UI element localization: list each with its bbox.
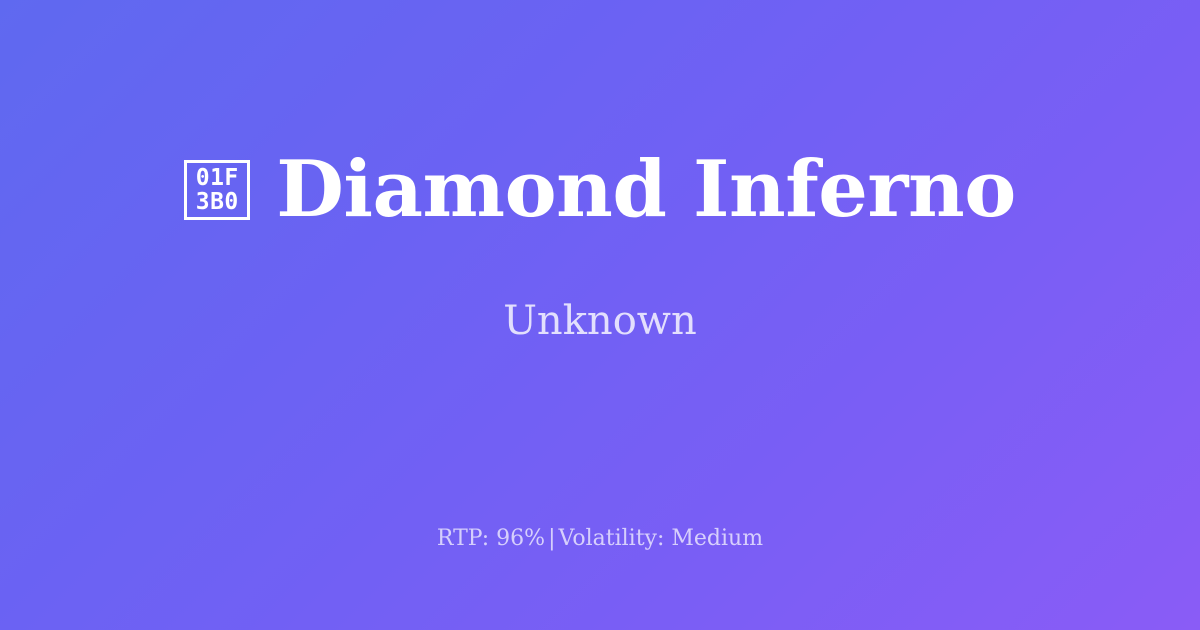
title-row: 01F 3B0 Diamond Inferno <box>184 151 1015 229</box>
footer-meta-row: RTP: 96%|Volatility: Medium <box>0 528 1200 550</box>
hero-block: 01F 3B0 Diamond Inferno Unknown <box>0 0 1200 500</box>
meta-rtp: RTP: 96% <box>437 528 545 550</box>
page-subtitle: Unknown <box>503 301 697 341</box>
meta-volatility: Volatility: Medium <box>559 528 764 550</box>
tofu-codepoint-line-2: 3B0 <box>196 190 239 214</box>
tofu-codepoint-line-1: 01F <box>196 166 239 190</box>
slot-machine-icon: 01F 3B0 <box>184 160 250 220</box>
page-title: Diamond Inferno <box>276 151 1015 229</box>
meta-separator: | <box>545 528 558 550</box>
og-share-card: 01F 3B0 Diamond Inferno Unknown RTP: 96%… <box>0 0 1200 630</box>
